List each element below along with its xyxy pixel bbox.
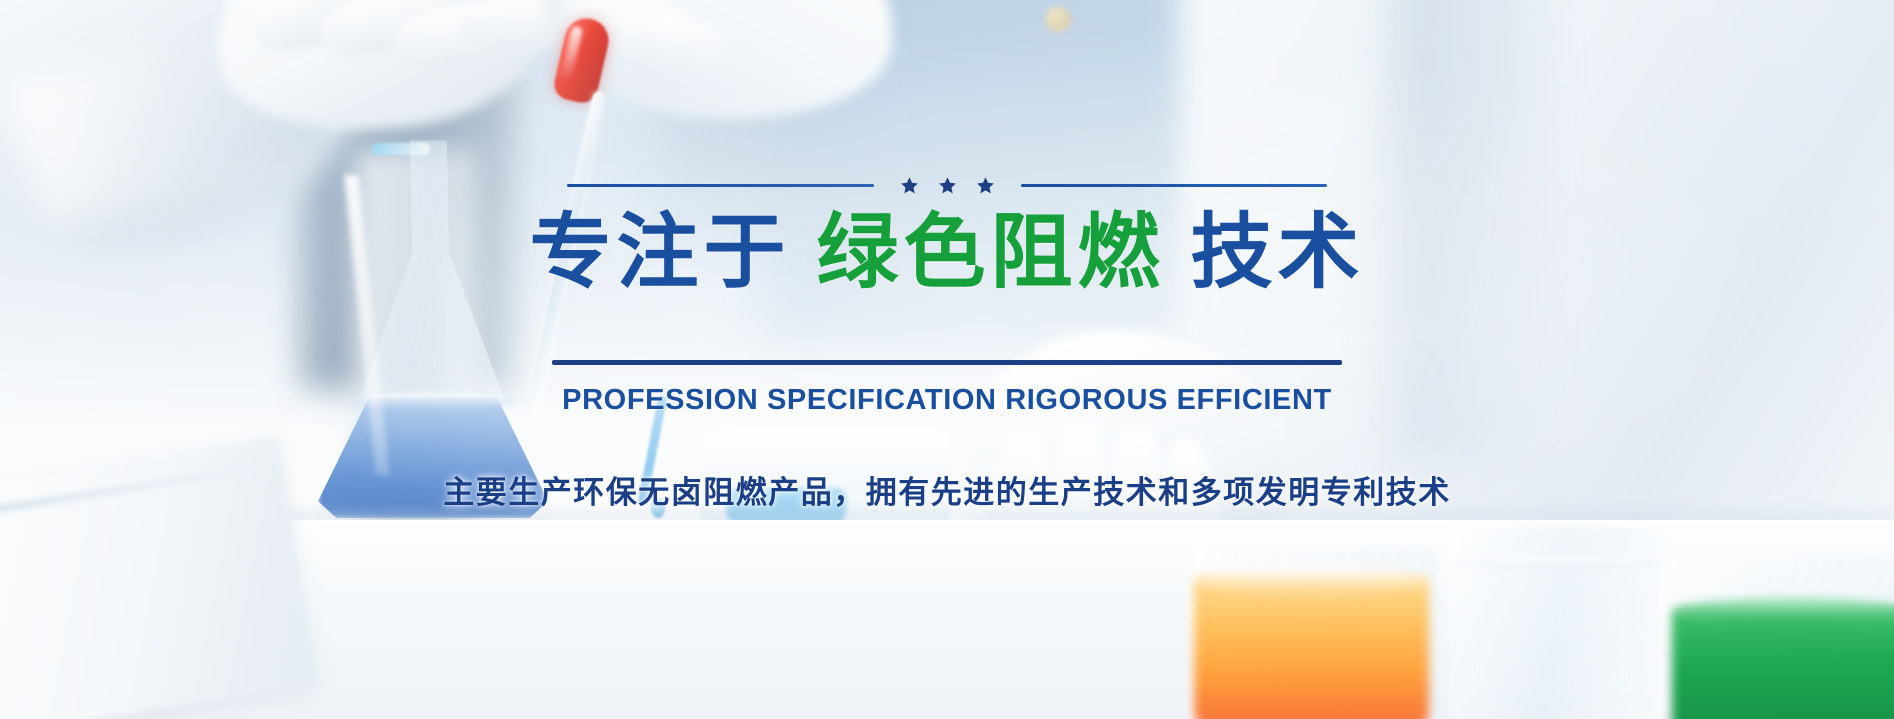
english-subtitle: PROFESSION SPECIFICATION RIGOROUS EFFICI… xyxy=(562,384,1332,417)
headline-part-3: 技术 xyxy=(1191,207,1365,298)
divider-rule-right xyxy=(1021,184,1328,187)
headline-part-1: 专注于 xyxy=(529,207,790,298)
headline-part-2: 绿色阻燃 xyxy=(816,207,1164,298)
divider-rule-left xyxy=(567,184,874,187)
headline-underline xyxy=(552,360,1342,365)
banner-content: 专注于绿色阻燃技术 PROFESSION SPECIFICATION RIGOR… xyxy=(0,0,1894,719)
star-icon xyxy=(976,176,995,195)
tagline: 主要生产环保无卤阻燃产品，拥有先进的生产技术和多项发明专利技术 xyxy=(443,467,1451,512)
star-icon xyxy=(938,176,957,195)
divider-stars xyxy=(874,176,1021,195)
star-icon xyxy=(900,176,919,195)
decorative-divider xyxy=(567,176,1327,195)
page-title: 专注于绿色阻燃技术 xyxy=(529,207,1364,299)
hero-banner: 专注于绿色阻燃技术 PROFESSION SPECIFICATION RIGOR… xyxy=(0,0,1894,719)
